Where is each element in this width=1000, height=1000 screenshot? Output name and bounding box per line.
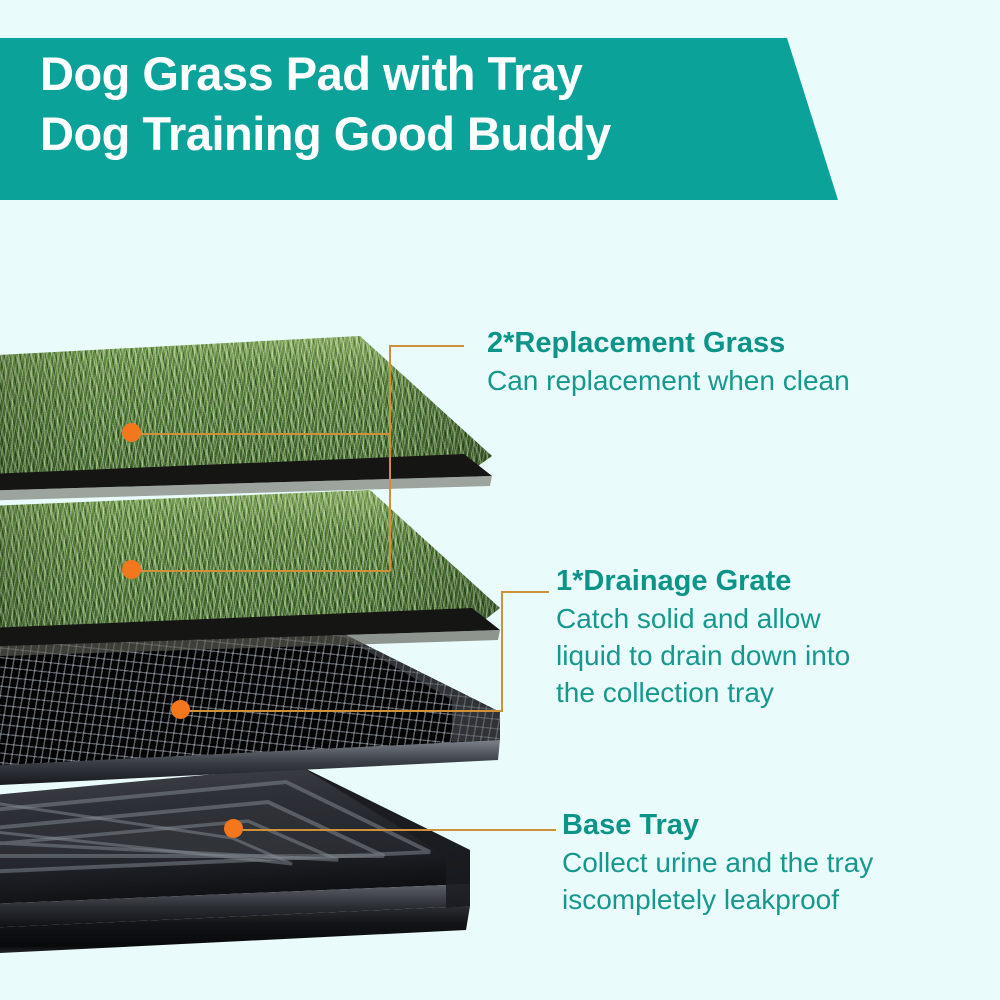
- marker-dot-grate: [171, 700, 190, 719]
- header-title-line-1: Dog Grass Pad with Tray: [40, 44, 800, 104]
- marker-dot-tray: [224, 819, 243, 838]
- callout-line: liquid to drain down into: [556, 637, 850, 674]
- callout-base-tray: Base Tray Collect urine and the tray isc…: [562, 806, 873, 918]
- leader-grass-seg-2: [389, 345, 464, 347]
- callout-line: Catch solid and allow: [556, 600, 850, 637]
- callout-line: the collection tray: [556, 674, 850, 711]
- leader-tray-seg-1: [240, 829, 556, 831]
- callout-heading: 2*Replacement Grass: [487, 324, 850, 362]
- header-title-line-2: Dog Training Good Buddy: [40, 104, 800, 164]
- callout-heading: Base Tray: [562, 806, 873, 844]
- leader-grate-riser: [501, 591, 503, 711]
- callout-heading: 1*Drainage Grate: [556, 562, 850, 600]
- infographic-canvas: Dog Grass Pad with Tray Dog Training Goo…: [0, 0, 1000, 1000]
- callout-line: Collect urine and the tray: [562, 844, 873, 881]
- header-title: Dog Grass Pad with Tray Dog Training Goo…: [40, 44, 800, 164]
- leader-grass-seg-1: [138, 433, 390, 435]
- leader-grass-riser: [389, 345, 391, 434]
- callout-line: Can replacement when clean: [487, 362, 850, 399]
- marker-dot-grass-top: [122, 423, 141, 442]
- callout-replacement-grass: 2*Replacement Grass Can replacement when…: [487, 324, 850, 399]
- callout-line: iscompletely leakproof: [562, 881, 873, 918]
- leader-grass2-seg-1: [138, 570, 390, 572]
- marker-dot-grass-bottom: [122, 560, 141, 579]
- leader-grass2-riser: [389, 433, 391, 571]
- callout-drainage-grate: 1*Drainage Grate Catch solid and allow l…: [556, 562, 850, 711]
- leader-grate-seg-1: [187, 710, 503, 712]
- leader-grate-seg-2: [501, 591, 549, 593]
